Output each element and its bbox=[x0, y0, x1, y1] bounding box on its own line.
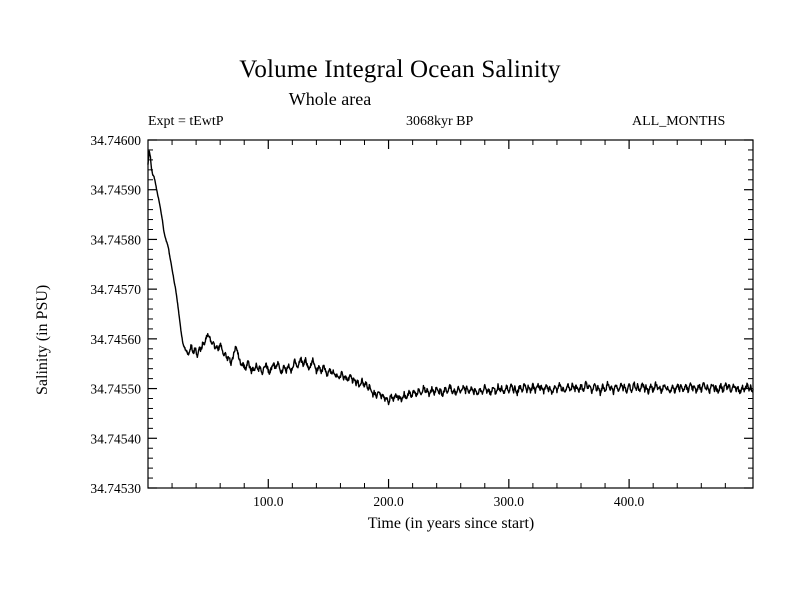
x-axis-major-ticks bbox=[268, 140, 629, 488]
y-axis-tick-labels: 34.7453034.7454034.7455034.7456034.74570… bbox=[90, 133, 141, 496]
y-tick-label: 34.74530 bbox=[90, 481, 141, 496]
x-tick-label: 200.0 bbox=[373, 494, 404, 509]
y-tick-label: 34.74540 bbox=[90, 431, 141, 446]
x-tick-label: 400.0 bbox=[614, 494, 645, 509]
y-tick-label: 34.74550 bbox=[90, 382, 141, 397]
y-axis-minor-ticks bbox=[148, 150, 753, 478]
y-tick-label: 34.74580 bbox=[90, 232, 141, 247]
y-tick-label: 34.74590 bbox=[90, 183, 141, 198]
y-tick-label: 34.74560 bbox=[90, 332, 141, 347]
x-tick-label: 300.0 bbox=[494, 494, 525, 509]
x-axis-tick-labels: 100.0200.0300.0400.0 bbox=[253, 494, 644, 509]
y-axis-major-ticks bbox=[148, 140, 753, 488]
y-tick-label: 34.74570 bbox=[90, 282, 141, 297]
plot-frame bbox=[148, 140, 753, 488]
x-tick-label: 100.0 bbox=[253, 494, 284, 509]
chart-page: Volume Integral Ocean Salinity Whole are… bbox=[0, 0, 800, 600]
salinity-data-line bbox=[148, 151, 753, 404]
y-tick-label: 34.74600 bbox=[90, 133, 141, 148]
salinity-line-chart: 34.7453034.7454034.7455034.7456034.74570… bbox=[0, 0, 800, 600]
x-axis-minor-ticks bbox=[172, 140, 725, 488]
